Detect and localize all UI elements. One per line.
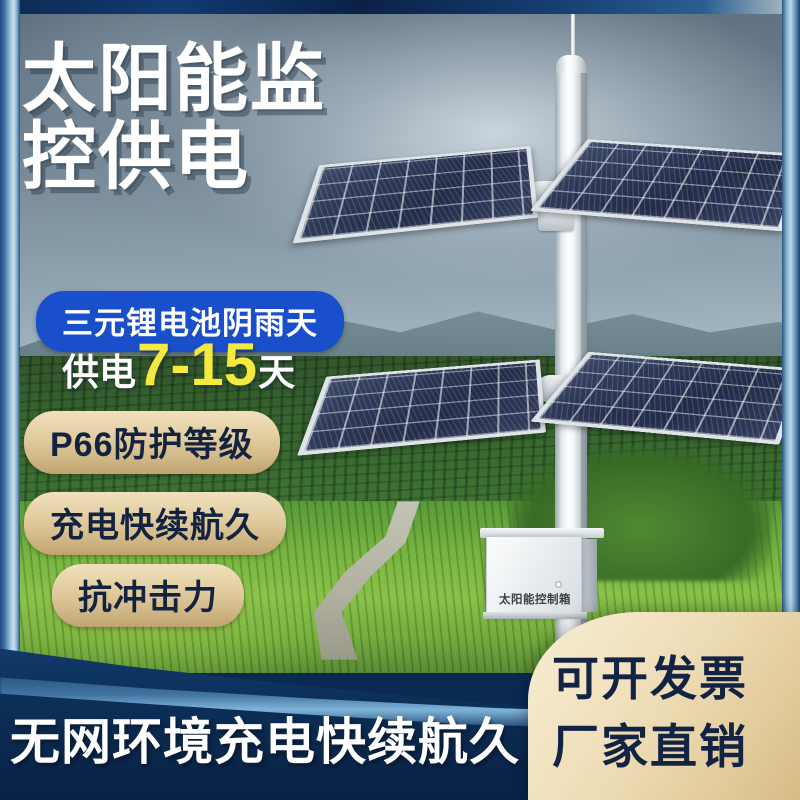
frame-right-edge [782,0,800,660]
supply-duration: 供电 7-15 天 [62,338,295,396]
feature-badge-impact-resistance: 抗冲击力 [52,564,244,627]
promo-banner: 太阳能控制箱 太阳能监 控供电 三元锂电池阴雨天 供电 7-15 天 P66防护… [0,0,800,800]
feature-badge-fast-charge: 充电快续航久 [24,492,286,555]
supply-days-value: 7-15 [137,338,257,392]
headline-line-2: 控供电 [22,118,326,196]
corner-callout-panel: 可开发票 厂家直销 [528,612,800,800]
feature-badge-ip-rating: P66防护等级 [24,411,280,474]
controller-box-side [581,539,597,612]
supply-unit-label: 天 [258,342,295,396]
frame-top-edge [0,0,800,14]
lock-icon [555,581,562,588]
corner-line-invoice: 可开发票 [552,640,748,709]
corner-line-factory-direct: 厂家直销 [552,708,748,777]
page-title: 太阳能监 控供电 [22,40,326,197]
controller-box-label: 太阳能控制箱 [487,591,583,607]
antenna-rod-icon [571,13,575,57]
headline-line-1: 太阳能监 [22,40,326,118]
bottom-banner-text: 无网环境充电快续航久 [10,702,520,774]
solar-controller-box: 太阳能控制箱 [486,528,596,620]
supply-prefix-label: 供电 [62,342,136,396]
controller-box-base [483,612,587,619]
frame-left-edge [0,0,20,660]
controller-box-face: 太阳能控制箱 [486,536,582,614]
